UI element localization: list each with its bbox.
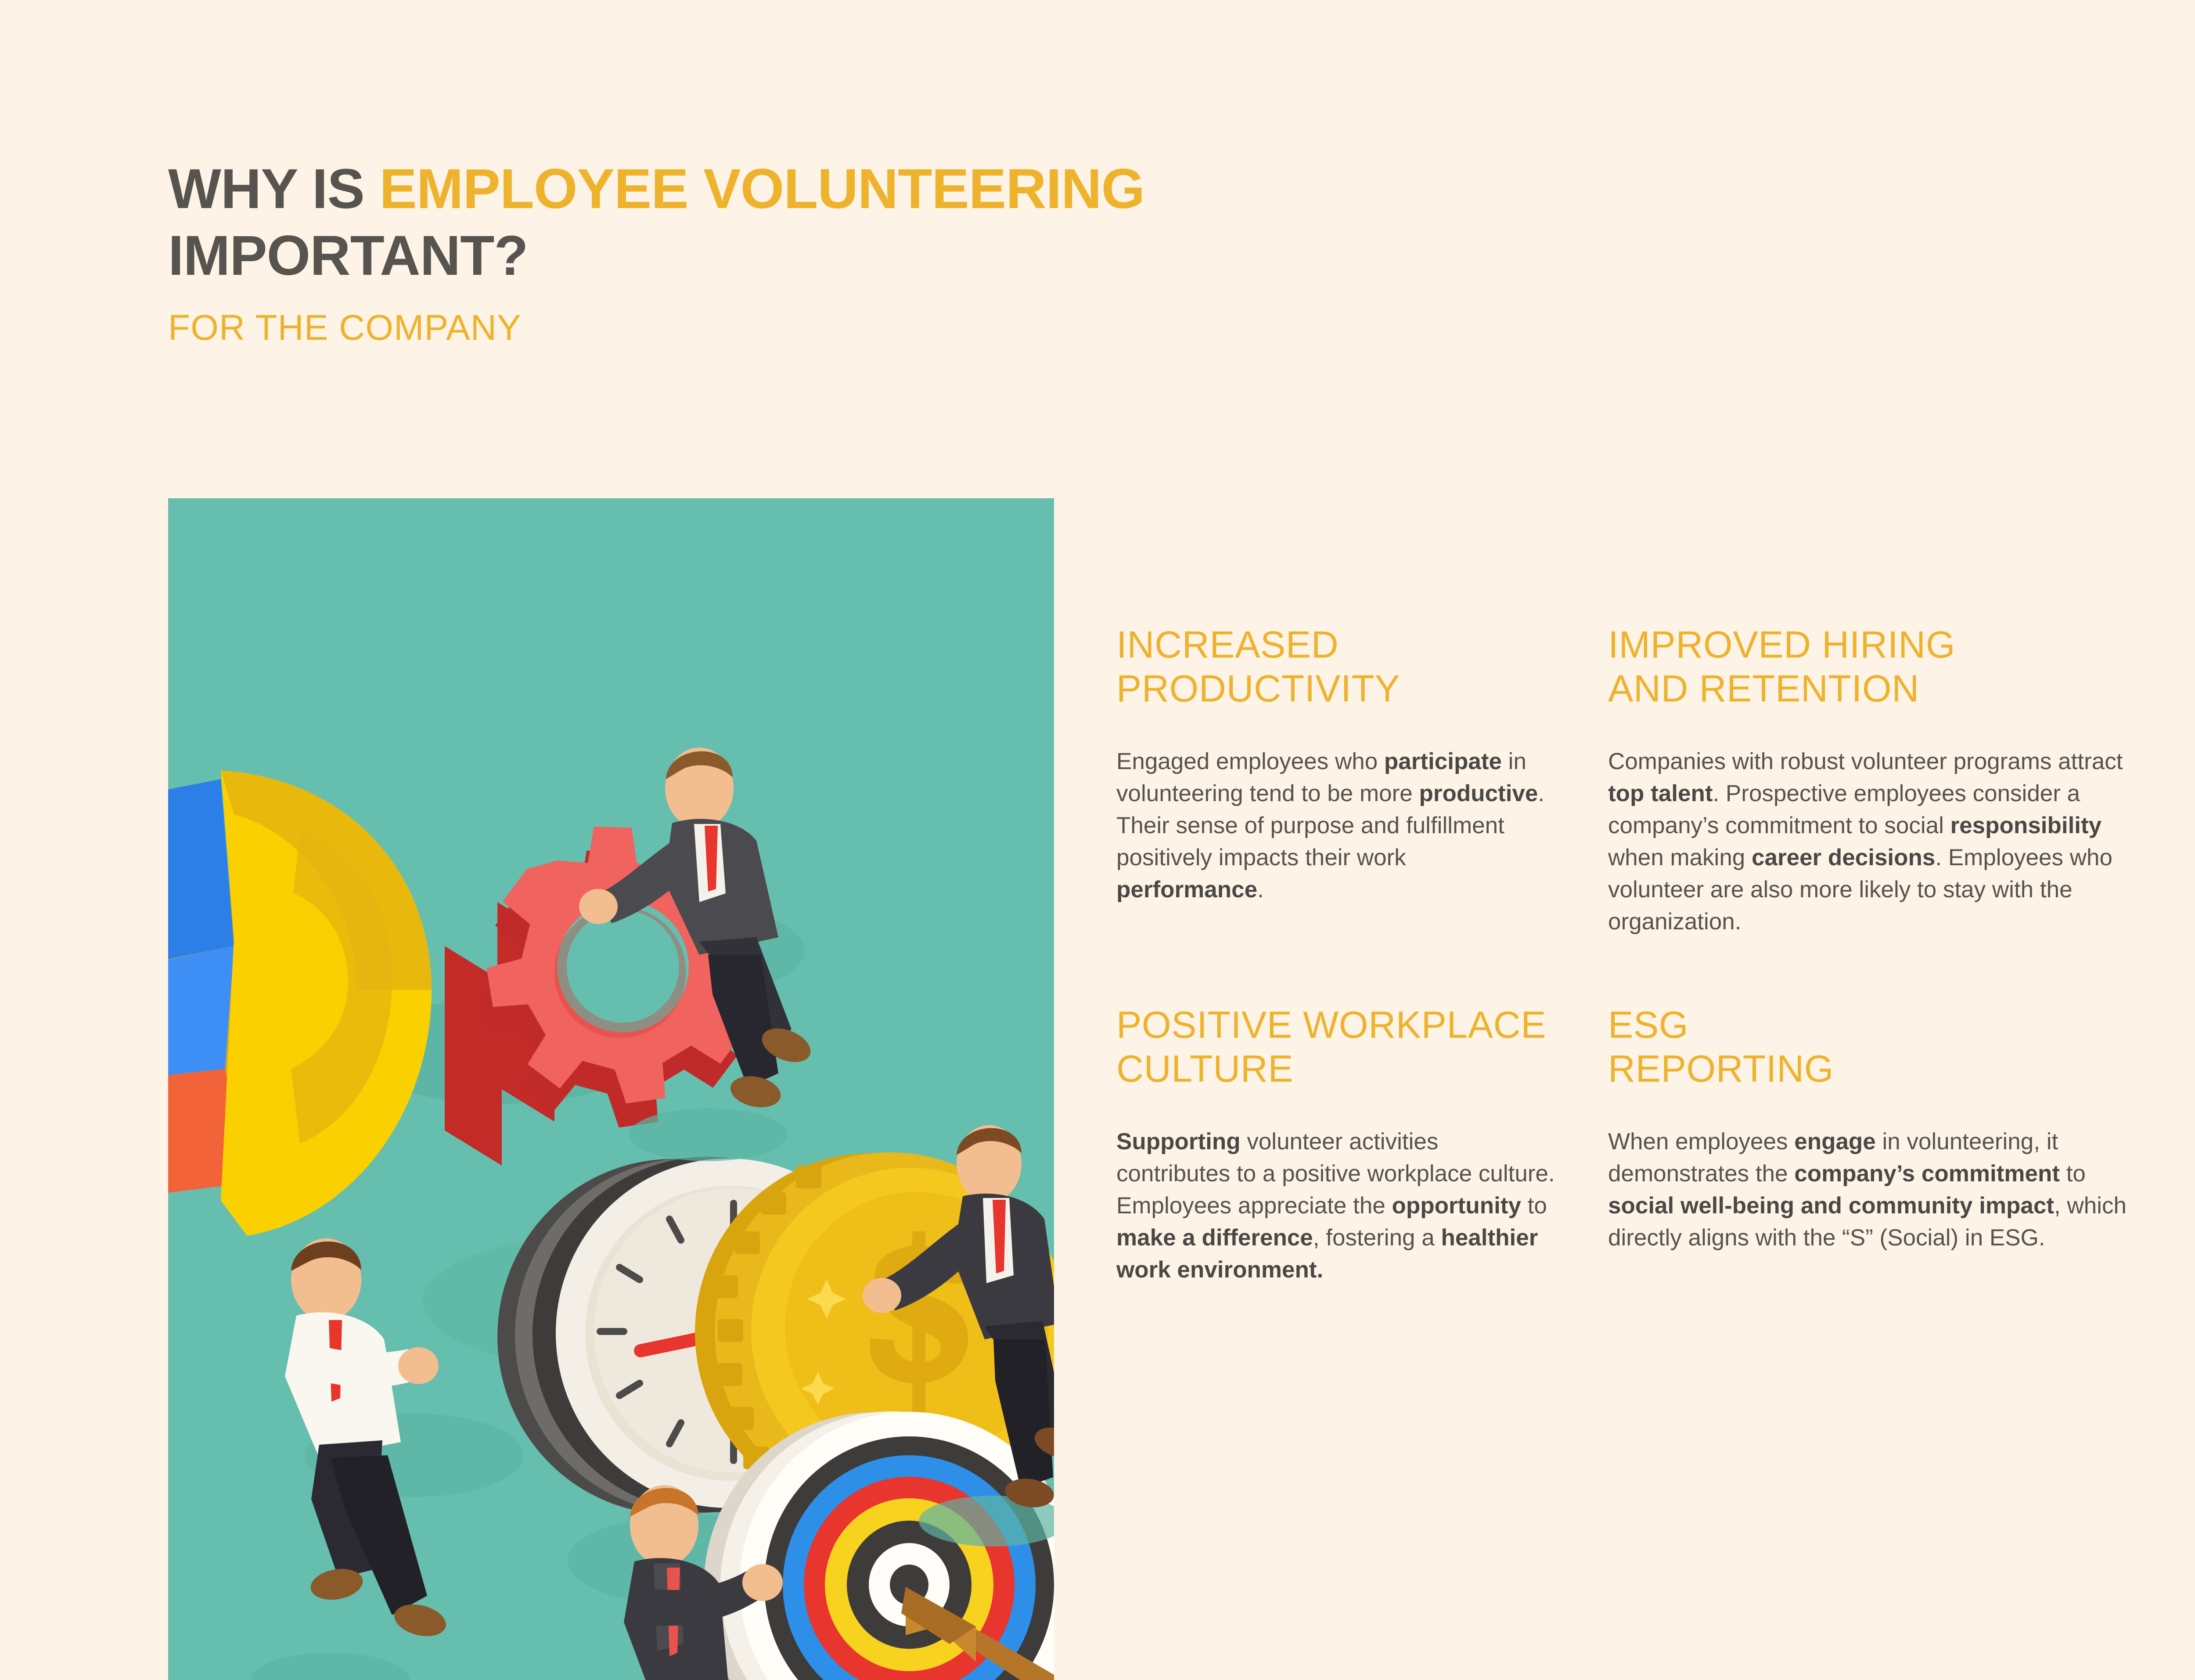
benefit-title: IMPROVED HIRING AND RETENTION xyxy=(1608,623,2135,711)
hand xyxy=(398,1347,439,1384)
benefit-block-improved-hiring-and-retention: IMPROVED HIRING AND RETENTION Companies … xyxy=(1608,623,2135,938)
hand xyxy=(863,1278,901,1313)
benefit-block-esg-reporting: ESG REPORTING When employees engage in v… xyxy=(1608,1004,2135,1286)
page-header: WHY IS EMPLOYEE VOLUNTEERING IMPORTANT? … xyxy=(168,156,1222,346)
benefit-title: ESG REPORTING xyxy=(1608,1004,2135,1091)
benefit-block-increased-productivity: INCREASED PRODUCTIVITY Engaged employees… xyxy=(1116,623,1555,938)
title-part-2: IMPORTANT? xyxy=(168,224,528,287)
hero-illustration xyxy=(168,498,1054,1680)
benefit-body: Supporting volunteer activities contribu… xyxy=(1116,1126,1555,1286)
benefit-body: Companies with robust volunteer programs… xyxy=(1608,745,2135,938)
page-subtitle: FOR THE COMPANY xyxy=(168,310,1222,346)
benefit-block-positive-workplace-culture: POSITIVE WORKPLACE CULTURE Supporting vo… xyxy=(1116,1004,1555,1286)
hand xyxy=(579,889,618,924)
page-title: WHY IS EMPLOYEE VOLUNTEERING IMPORTANT? xyxy=(168,156,1222,290)
benefit-title: POSITIVE WORKPLACE CULTURE xyxy=(1116,1004,1555,1091)
benefit-body: Engaged employees who participate in vol… xyxy=(1116,745,1555,906)
title-highlight: EMPLOYEE VOLUNTEERING xyxy=(379,158,1144,220)
illustration-svg xyxy=(168,498,1054,1680)
benefits-grid: INCREASED PRODUCTIVITY Engaged employees… xyxy=(1116,623,2135,1286)
hand xyxy=(742,1564,783,1601)
benefit-title: INCREASED PRODUCTIVITY xyxy=(1116,623,1555,711)
benefit-body: When employees engage in volunteering, i… xyxy=(1608,1126,2135,1254)
shadow xyxy=(629,1108,787,1161)
title-part-1: WHY IS xyxy=(168,158,379,220)
